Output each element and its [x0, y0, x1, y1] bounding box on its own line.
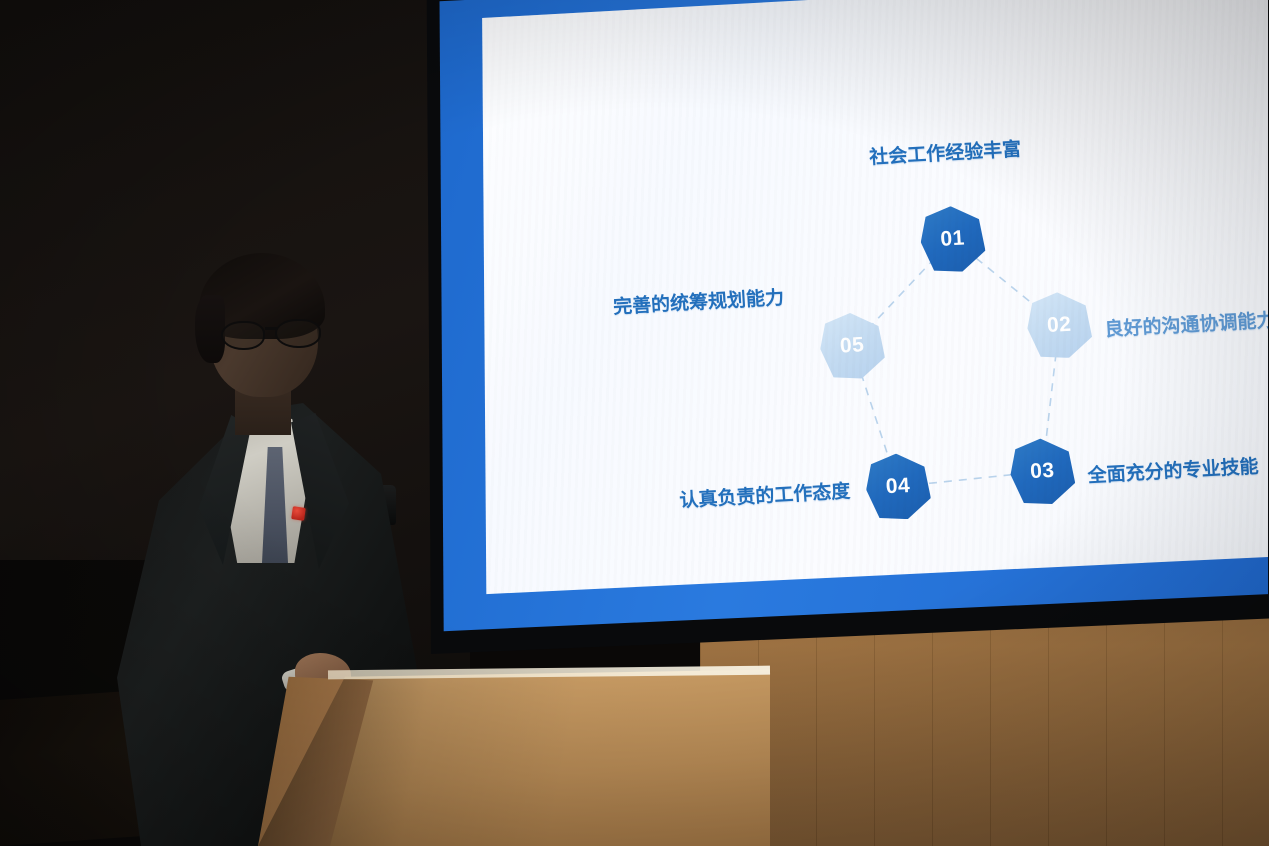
projection-screen[interactable]: 1902 竞选优势 01 社会工作经验丰富 02 良好的沟通协调能力 03 全面… — [432, 0, 1268, 662]
glasses-icon — [221, 319, 325, 349]
podium — [258, 666, 770, 846]
glasses-lens-right — [275, 319, 321, 348]
hex-node-02-number: 02 — [1046, 313, 1072, 338]
glasses-bridge — [265, 327, 277, 330]
glasses-lens-left — [221, 321, 265, 350]
hex-node-05-number: 05 — [839, 333, 865, 358]
red-party-badge-pin — [291, 506, 306, 521]
hex-node-04-number: 04 — [885, 474, 911, 499]
presentation-scene: 1902 竞选优势 01 社会工作经验丰富 02 良好的沟通协调能力 03 全面… — [0, 0, 1269, 846]
hex-node-01-number: 01 — [940, 227, 966, 252]
hex-node-03-number: 03 — [1029, 459, 1055, 484]
slide-content: 1902 竞选优势 01 社会工作经验丰富 02 良好的沟通协调能力 03 全面… — [432, 0, 1268, 662]
